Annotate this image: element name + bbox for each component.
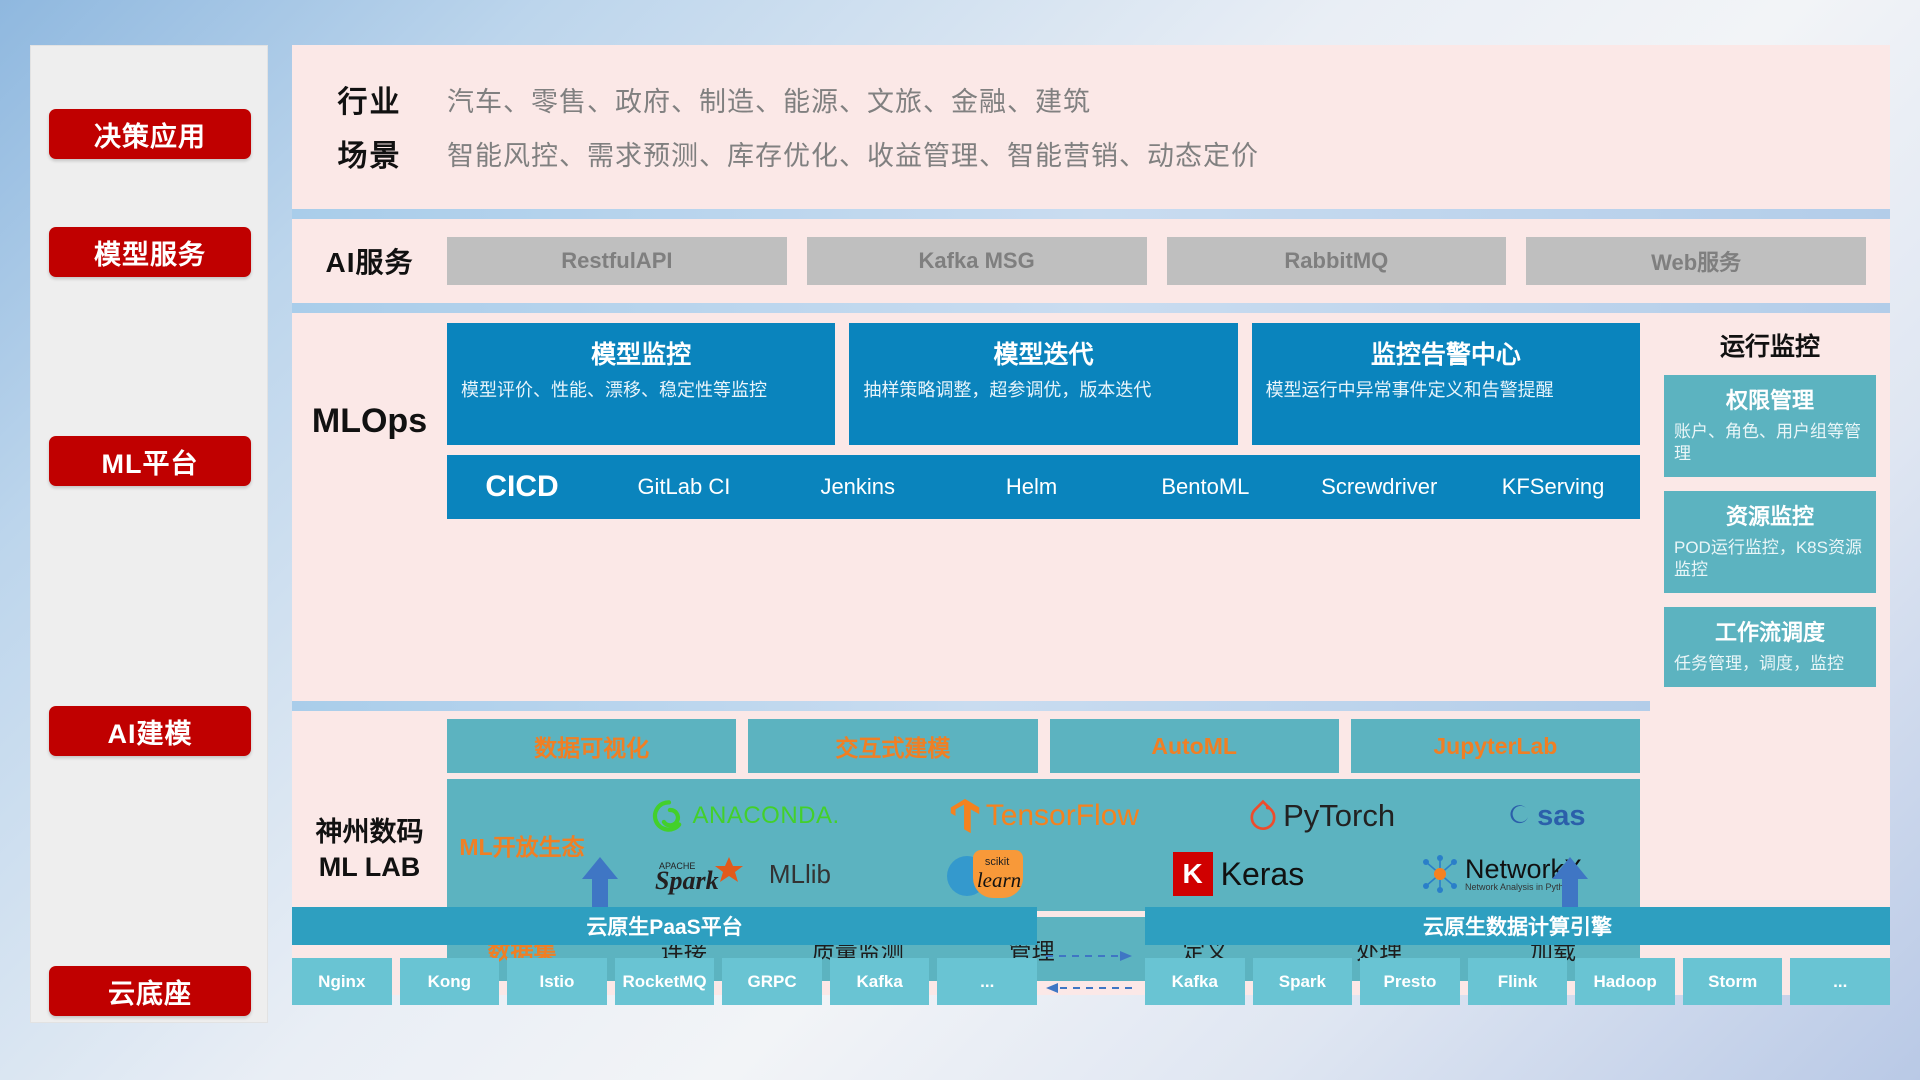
band-divider: [292, 701, 1650, 711]
mlops-card-title: 模型迭代: [863, 335, 1223, 371]
modeling-tool-jupyterlab[interactable]: JupyterLab: [1351, 719, 1640, 773]
pytorch-logo: PyTorch: [1248, 798, 1395, 834]
scenario-value: 智能风控、需求预测、库存优化、收益管理、智能营销、动态定价: [447, 134, 1259, 173]
scenario-label: 场景: [292, 131, 447, 175]
industry-scenario-band: 行业 汽车、零售、政府、制造、能源、文旅、金融、建筑 场景 智能风控、需求预测、…: [292, 45, 1890, 209]
pytorch-icon: [1248, 799, 1278, 833]
architecture-main: 行业 汽车、零售、政府、制造、能源、文旅、金融、建筑 场景 智能风控、需求预测、…: [292, 45, 1890, 995]
tensorflow-logo: TensorFlow: [949, 797, 1139, 835]
pytorch-wordmark: PyTorch: [1283, 798, 1395, 834]
rail-item-decision-app[interactable]: 决策应用: [49, 109, 251, 159]
cloud-chip-grpc[interactable]: GRPC: [722, 958, 822, 1005]
anaconda-logo: ANACONDA.: [652, 799, 840, 833]
cicd-bar: CICD GitLab CI Jenkins Helm BentoML Scre…: [447, 455, 1640, 519]
cloud-data-engine-header: 云原生数据计算引擎: [1145, 907, 1890, 945]
monitoring-card-title: 资源监控: [1674, 499, 1866, 531]
ml-lab-label-line1: 神州数码: [316, 815, 424, 850]
runtime-monitoring-column: 运行监控 权限管理 账户、角色、用户组等管理 资源监控 POD运行监控，K8S资…: [1650, 313, 1890, 701]
cicd-item-kfserving[interactable]: KFServing: [1466, 476, 1640, 498]
band-divider: [292, 209, 1890, 219]
mlops-section: MLOps 模型监控 模型评价、性能、漂移、稳定性等监控 模型迭代 抽样策略调整…: [292, 313, 1890, 701]
cloud-paas-header: 云原生PaaS平台: [292, 907, 1037, 945]
rail-item-label: AI建模: [108, 712, 193, 751]
cloud-chip-kafka[interactable]: Kafka: [830, 958, 930, 1005]
cloud-paas-group: 云原生PaaS平台 Nginx Kong Istio RocketMQ GRPC…: [292, 907, 1037, 1005]
cloud-chip-kong[interactable]: Kong: [400, 958, 500, 1005]
cicd-item-gitlab-ci[interactable]: GitLab CI: [597, 476, 771, 498]
cicd-item-jenkins[interactable]: Jenkins: [771, 476, 945, 498]
ai-service-chip-list: RestfulAPI Kafka MSG RabbitMQ Web服务: [447, 237, 1870, 285]
cloud-chip-hadoop[interactable]: Hadoop: [1575, 958, 1675, 1005]
rail-item-label: ML平台: [102, 442, 199, 481]
sas-logo: sas: [1504, 800, 1585, 833]
monitoring-card-desc: 账户、角色、用户组等管理: [1674, 421, 1866, 465]
cicd-title: CICD: [447, 470, 597, 504]
monitoring-card-workflow[interactable]: 工作流调度 任务管理，调度，监控: [1664, 607, 1876, 687]
mlops-label: MLOps: [292, 323, 447, 519]
bidirectional-dashed-connector: [1044, 950, 1134, 1000]
runtime-monitoring-title: 运行监控: [1664, 313, 1876, 375]
mlops-card-alert-center[interactable]: 监控告警中心 模型运行中异常事件定义和告警提醒: [1252, 323, 1640, 445]
cloud-paas-chip-list: Nginx Kong Istio RocketMQ GRPC Kafka ...: [292, 958, 1037, 1005]
band-divider: [292, 303, 1890, 313]
cloud-foundation-section: 云原生PaaS平台 Nginx Kong Istio RocketMQ GRPC…: [292, 855, 1890, 1023]
sas-icon: [1504, 801, 1534, 831]
modeling-tool-interactive-modeling[interactable]: 交互式建模: [748, 719, 1037, 773]
cloud-chip-presto[interactable]: Presto: [1360, 958, 1460, 1005]
arrow-stem-left: [592, 877, 608, 907]
tensorflow-wordmark: TensorFlow: [986, 799, 1139, 833]
stack-layer-rail: 决策应用 模型服务 ML平台 AI建模 云底座: [30, 45, 268, 1023]
rail-item-ml-platform[interactable]: ML平台: [49, 436, 251, 486]
modeling-tool-list: 数据可视化 交互式建模 AutoML JupyterLab: [447, 719, 1640, 773]
industry-label: 行业: [292, 77, 447, 121]
monitoring-card-permission[interactable]: 权限管理 账户、角色、用户组等管理: [1664, 375, 1876, 477]
cloud-chip-istio[interactable]: Istio: [507, 958, 607, 1005]
mlops-card-title: 模型监控: [461, 335, 821, 371]
cloud-chip-storm[interactable]: Storm: [1683, 958, 1783, 1005]
mlops-card-title: 监控告警中心: [1266, 335, 1626, 371]
cloud-chip-spark[interactable]: Spark: [1253, 958, 1353, 1005]
cloud-data-engine-group: 云原生数据计算引擎 Kafka Spark Presto Flink Hadoo…: [1145, 907, 1890, 1005]
mlops-card-desc: 模型评价、性能、漂移、稳定性等监控: [461, 379, 821, 402]
cloud-chip-rocketmq[interactable]: RocketMQ: [615, 958, 715, 1005]
arrow-stem-right: [1562, 877, 1578, 907]
mlops-band: MLOps 模型监控 模型评价、性能、漂移、稳定性等监控 模型迭代 抽样策略调整…: [292, 313, 1650, 701]
cicd-item-bentoml[interactable]: BentoML: [1118, 476, 1292, 498]
mlops-card-list: 模型监控 模型评价、性能、漂移、稳定性等监控 模型迭代 抽样策略调整，超参调优，…: [447, 323, 1640, 445]
arrow-up-right: [1552, 857, 1588, 879]
tensorflow-icon: [949, 797, 981, 835]
monitoring-card-title: 工作流调度: [1674, 615, 1866, 647]
rail-item-label: 决策应用: [94, 115, 206, 154]
cloud-data-engine-chip-list: Kafka Spark Presto Flink Hadoop Storm ..…: [1145, 958, 1890, 1005]
cicd-item-helm[interactable]: Helm: [945, 476, 1119, 498]
ai-service-band: AI服务 RestfulAPI Kafka MSG RabbitMQ Web服务: [292, 219, 1890, 303]
cloud-chip-kafka[interactable]: Kafka: [1145, 958, 1245, 1005]
monitoring-card-resource[interactable]: 资源监控 POD运行监控，K8S资源监控: [1664, 491, 1876, 593]
scenario-row: 场景 智能风控、需求预测、库存优化、收益管理、智能营销、动态定价: [292, 131, 1890, 175]
rail-item-label: 云底座: [108, 972, 192, 1011]
cicd-item-screwdriver[interactable]: Screwdriver: [1292, 476, 1466, 498]
monitoring-card-desc: 任务管理，调度，监控: [1674, 653, 1866, 675]
cloud-chip-more[interactable]: ...: [1790, 958, 1890, 1005]
rail-item-ai-modeling[interactable]: AI建模: [49, 706, 251, 756]
modeling-tool-automl[interactable]: AutoML: [1050, 719, 1339, 773]
ai-service-chip-rabbitmq[interactable]: RabbitMQ: [1167, 237, 1507, 285]
cloud-chip-flink[interactable]: Flink: [1468, 958, 1568, 1005]
anaconda-wordmark: ANACONDA.: [693, 802, 840, 830]
rail-item-cloud-base[interactable]: 云底座: [49, 966, 251, 1016]
ai-service-chip-restfulapi[interactable]: RestfulAPI: [447, 237, 787, 285]
anaconda-icon: [652, 799, 686, 833]
cloud-chip-more[interactable]: ...: [937, 958, 1037, 1005]
ai-service-label: AI服务: [292, 241, 447, 281]
industry-row: 行业 汽车、零售、政府、制造、能源、文旅、金融、建筑: [292, 77, 1890, 121]
cloud-chip-nginx[interactable]: Nginx: [292, 958, 392, 1005]
monitoring-card-desc: POD运行监控，K8S资源监控: [1674, 537, 1866, 581]
monitoring-card-title: 权限管理: [1674, 383, 1866, 415]
mlops-card-desc: 模型运行中异常事件定义和告警提醒: [1266, 379, 1626, 402]
ecosystem-logo-row-1: ANACONDA. TensorFlow: [597, 787, 1640, 845]
industry-value: 汽车、零售、政府、制造、能源、文旅、金融、建筑: [447, 80, 1091, 119]
ai-service-chip-kafka-msg[interactable]: Kafka MSG: [807, 237, 1147, 285]
ai-service-chip-web-service[interactable]: Web服务: [1526, 237, 1866, 285]
mlops-card-desc: 抽样策略调整，超参调优，版本迭代: [863, 379, 1223, 402]
mlops-card-model-monitoring[interactable]: 模型监控 模型评价、性能、漂移、稳定性等监控: [447, 323, 835, 445]
mlops-card-model-iteration[interactable]: 模型迭代 抽样策略调整，超参调优，版本迭代: [849, 323, 1237, 445]
sas-wordmark: sas: [1537, 800, 1585, 833]
modeling-tool-data-visualization[interactable]: 数据可视化: [447, 719, 736, 773]
arrow-up-left: [582, 857, 618, 879]
rail-item-label: 模型服务: [94, 233, 206, 272]
rail-item-model-service[interactable]: 模型服务: [49, 227, 251, 277]
